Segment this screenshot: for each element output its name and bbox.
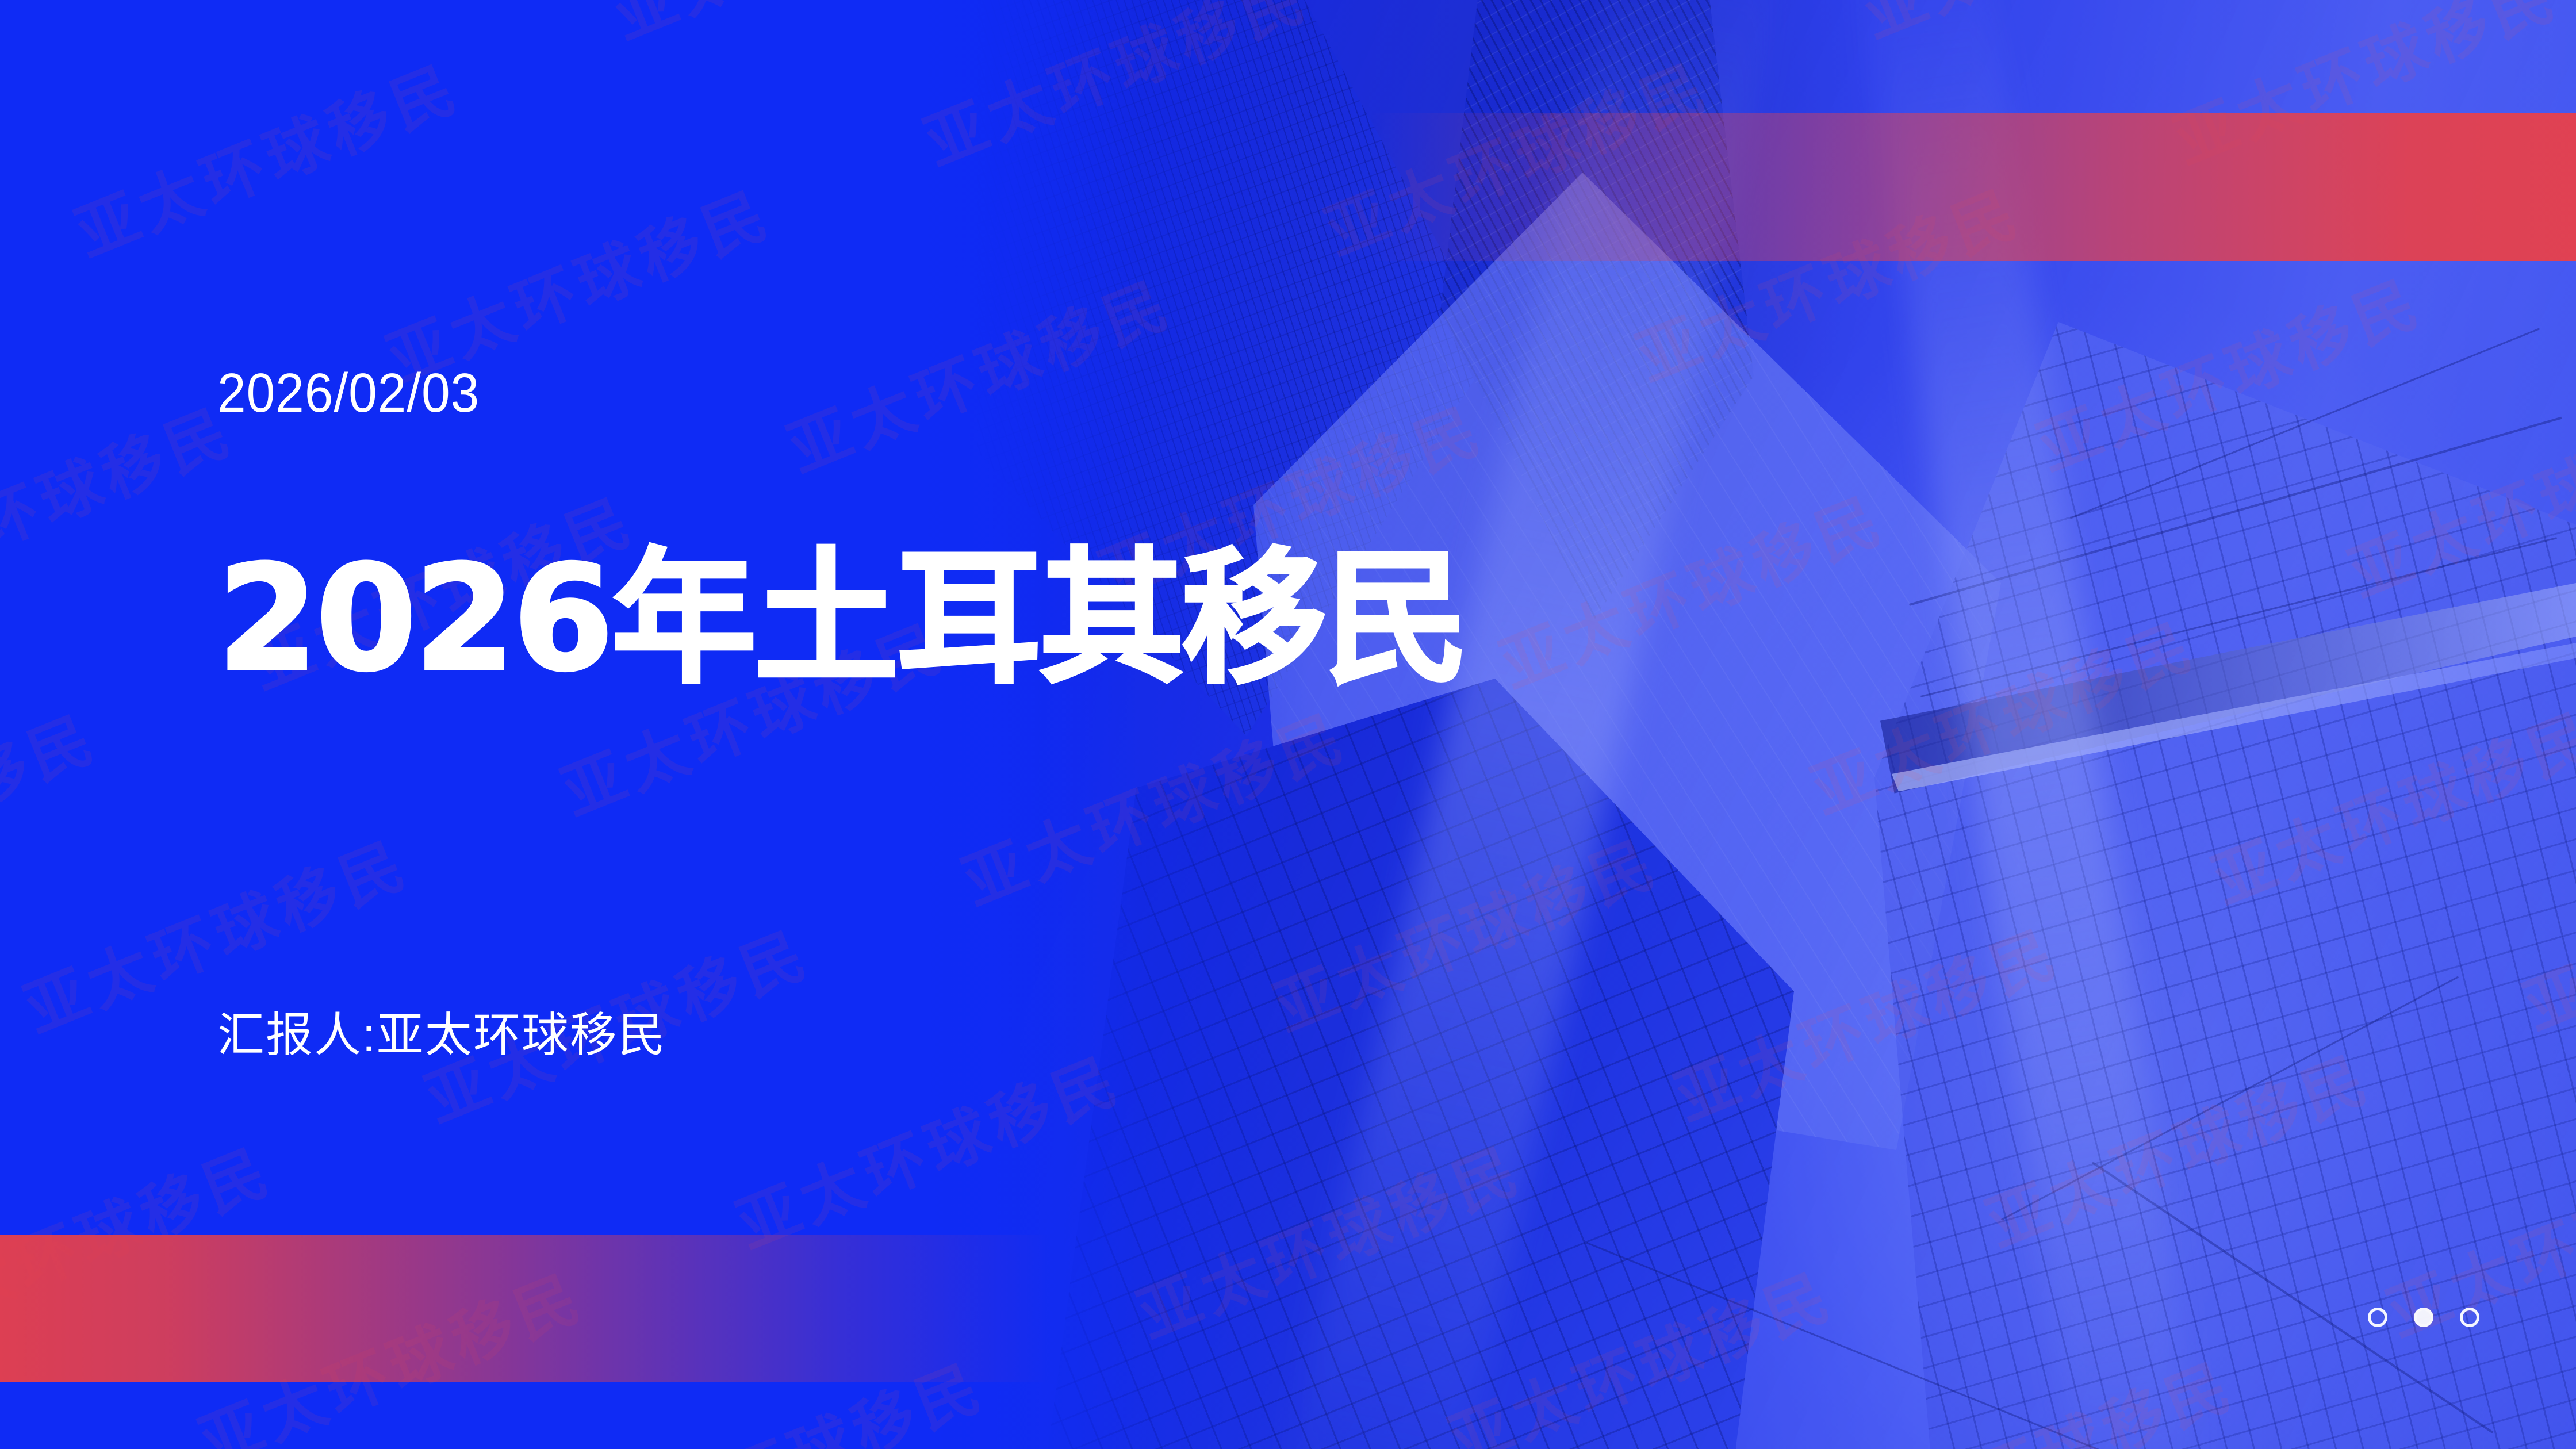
pagination-dot-1[interactable] xyxy=(2368,1308,2387,1327)
slide-presenter: 汇报人:亚太环球移民 xyxy=(217,1012,666,1059)
slide-content: 2026/02/03 2026年土耳其移民 汇报人:亚太环球移民 xyxy=(217,0,1712,1449)
slide-date: 2026/02/03 xyxy=(217,366,480,421)
slide-title: 2026年土耳其移民 xyxy=(217,543,1467,696)
presentation-slide: 亚太环球移民 亚太环球移民 亚太环球移民 亚太环球移民 亚太环球移民 亚太环球移… xyxy=(0,0,2576,1449)
pagination-dot-3[interactable] xyxy=(2460,1308,2479,1327)
pagination-dots[interactable] xyxy=(2368,1308,2479,1327)
pagination-dot-2[interactable] xyxy=(2414,1308,2433,1327)
